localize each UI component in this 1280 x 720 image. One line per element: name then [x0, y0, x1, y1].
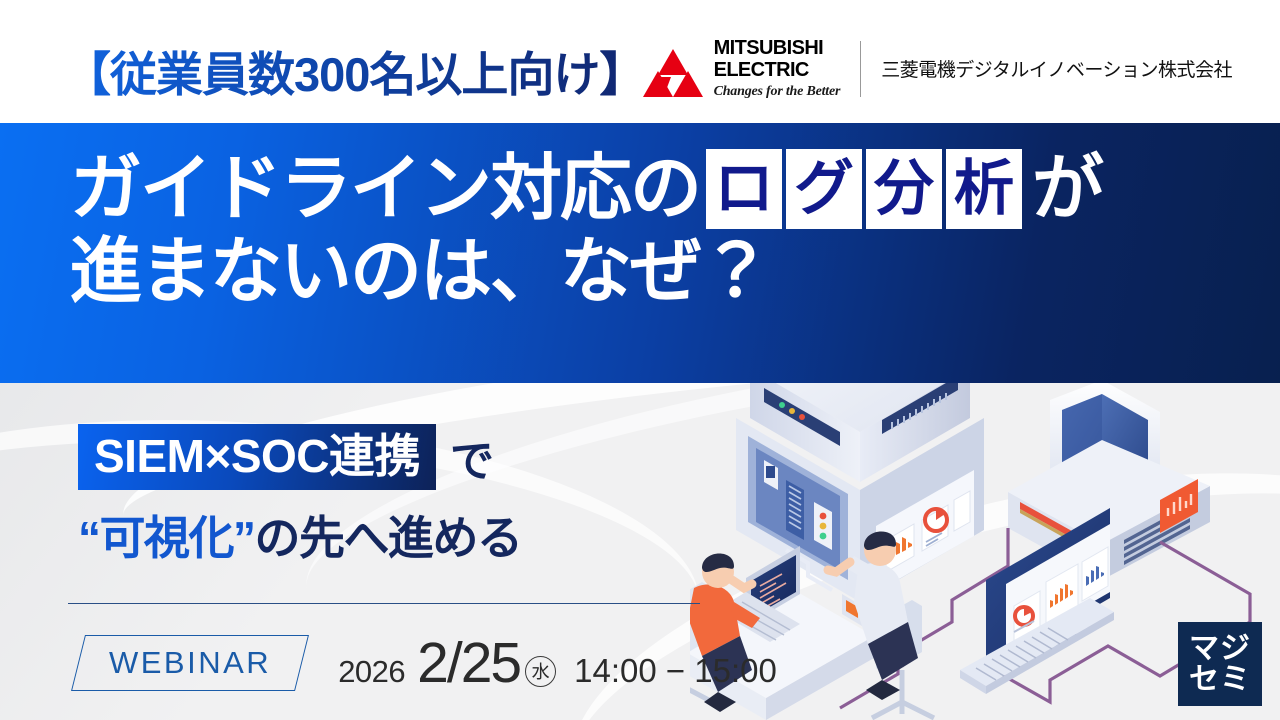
title-suffix: が: [1032, 153, 1102, 225]
subheadline: SIEM×SOC連携 で “可視化”の先へ進める: [78, 424, 522, 568]
subheadline-quoted-term: “可視化”: [78, 512, 255, 564]
boxed-char: ロ: [706, 149, 782, 229]
logo-brand-line2: ELECTRIC: [714, 60, 841, 80]
boxed-char: 析: [946, 149, 1022, 229]
audience-tag: 【従業員数300名以上向け】: [64, 36, 645, 105]
webinar-badge: WEBINAR: [71, 635, 309, 691]
footer-divider: [68, 603, 700, 604]
subheadline-connector: で: [450, 425, 493, 489]
siem-soc-badge: SIEM×SOC連携: [78, 424, 436, 490]
main-title: ガイドライン対応の ロ グ 分 析 が 進まないのは、なぜ？: [70, 145, 1102, 315]
company-name: 三菱電機デジタルイノベーション株式会社: [881, 55, 1232, 82]
logo-wordmark: MITSUBISHI ELECTRIC Changes for the Bett…: [714, 38, 841, 99]
logo-brand-line1: MITSUBISHI: [714, 38, 841, 58]
title-line2-text: 進まないのは、なぜ？: [70, 236, 770, 308]
majisemi-logo: マジ セミ: [1178, 622, 1262, 706]
logo-mark-and-wordmark: MITSUBISHI ELECTRIC Changes for the Bett…: [642, 38, 841, 99]
subheadline-row-1: SIEM×SOC連携 で: [78, 424, 522, 490]
event-month-day: 2/25: [417, 630, 520, 696]
event-details: WEBINAR 2026 2/25 水 14:00 − 15:00: [78, 630, 777, 696]
boxed-keyword: ロ グ 分 析: [706, 149, 1022, 229]
title-line-1: ガイドライン対応の ロ グ 分 析 が: [70, 145, 1102, 233]
event-time: 14:00 − 15:00: [574, 652, 777, 690]
majisemi-line2: セミ: [1189, 664, 1251, 695]
subheadline-rest: の先へ進める: [255, 512, 522, 564]
logo-tagline: Changes for the Better: [714, 85, 841, 99]
boxed-char: グ: [786, 149, 862, 229]
subheadline-row-2: “可視化”の先へ進める: [78, 502, 522, 568]
webinar-badge-label: WEBINAR: [109, 645, 271, 681]
boxed-char: 分: [866, 149, 942, 229]
title-prefix: ガイドライン対応の: [70, 153, 700, 225]
event-day-of-week: 水: [525, 656, 556, 687]
title-line-2: 進まないのは、なぜ？: [70, 229, 1102, 315]
logo-divider: [860, 41, 861, 97]
mitsubishi-electric-logo: MITSUBISHI ELECTRIC Changes for the Bett…: [642, 38, 1232, 99]
mitsubishi-three-diamonds-icon: [642, 47, 704, 99]
banner-canvas: 【従業員数300名以上向け】 MITSUBISHI ELECTRIC Chang…: [0, 0, 1280, 720]
event-year: 2026: [338, 654, 405, 690]
date-time: 2026 2/25 水 14:00 − 15:00: [338, 630, 777, 696]
header-bar: 【従業員数300名以上向け】 MITSUBISHI ELECTRIC Chang…: [0, 0, 1280, 123]
majisemi-line1: マジ: [1189, 633, 1251, 664]
